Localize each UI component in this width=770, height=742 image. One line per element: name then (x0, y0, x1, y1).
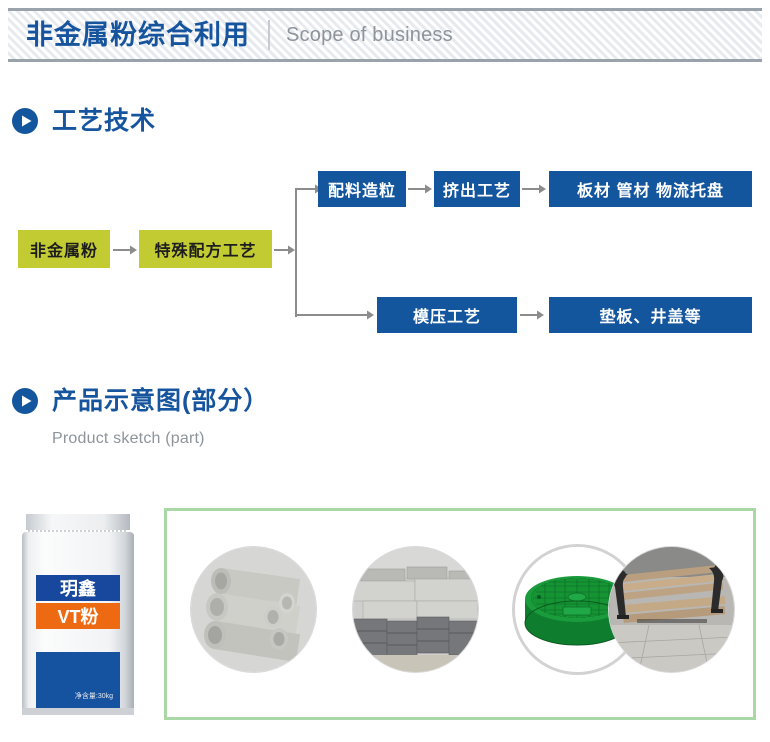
product-photo-gallery (164, 508, 756, 720)
flow-node-compound-granulation: 配料造粒 (318, 171, 406, 207)
flow-arrow-right-icon (520, 309, 545, 321)
banner-title-en: Scope of business (286, 24, 453, 47)
play-circle-icon (12, 388, 38, 414)
gallery-photo-stone-slabs[interactable] (353, 547, 478, 672)
flow-arrow-to-branch-icon (274, 244, 296, 256)
flow-arrow-right-icon (113, 244, 138, 256)
section-heading-process-technology: 工艺技术 (12, 108, 156, 134)
play-circle-icon (12, 108, 38, 134)
flow-node-pads-manhole-covers: 垫板、井盖等 (549, 297, 752, 333)
flow-node-sheet-pipe-pallet: 板材 管材 物流托盘 (549, 171, 752, 207)
page-banner: 非金属粉综合利用 Scope of business (8, 8, 762, 62)
flow-arrow-right-icon (522, 183, 547, 195)
stone-slabs-photo (353, 547, 478, 672)
flow-branch-spine (295, 189, 297, 317)
svg-text:VT粉: VT粉 (57, 606, 98, 627)
process-flow-diagram: 非金属粉 特殊配方工艺 配料造粒 挤出 (0, 160, 770, 350)
svg-text:净含量:30kg: 净含量:30kg (75, 691, 113, 700)
pvc-pipes-photo (191, 547, 316, 672)
banner-title-cn: 非金属粉综合利用 (26, 22, 250, 49)
section-heading-product-sketch: 产品示意图(部分） (12, 388, 269, 414)
flow-node-extrusion-process: 挤出工艺 (434, 171, 520, 207)
flow-node-raw-material: 非金属粉 (18, 230, 110, 268)
svg-text:玥鑫: 玥鑫 (60, 578, 96, 599)
park-bench-photo (609, 547, 734, 672)
product-bag-illustration: 玥鑫 VT粉 净含量:30kg 玥鑫 VT粉 净含量:30kg (18, 512, 138, 717)
flow-node-special-formula: 特殊配方工艺 (139, 230, 272, 268)
section-title-process-technology: 工艺技术 (52, 109, 156, 134)
gallery-photo-pvc-pipes[interactable] (191, 547, 316, 672)
gallery-photo-park-bench[interactable] (609, 547, 734, 672)
section-title-product-sketch: 产品示意图(部分） (52, 389, 269, 414)
flow-node-compression-molding: 模压工艺 (377, 297, 517, 333)
bag-base-band (36, 652, 120, 710)
flow-arrow-bottom-branch-icon (295, 309, 375, 321)
flow-arrow-right-icon (408, 183, 433, 195)
product-bag-svg: 玥鑫 VT粉 净含量:30kg (18, 512, 138, 717)
banner-divider (268, 20, 270, 50)
section-subtitle-product-sketch: Product sketch (part) (52, 430, 205, 448)
page-root: 非金属粉综合利用 Scope of business 工艺技术 非金属粉 特殊配… (0, 0, 770, 742)
